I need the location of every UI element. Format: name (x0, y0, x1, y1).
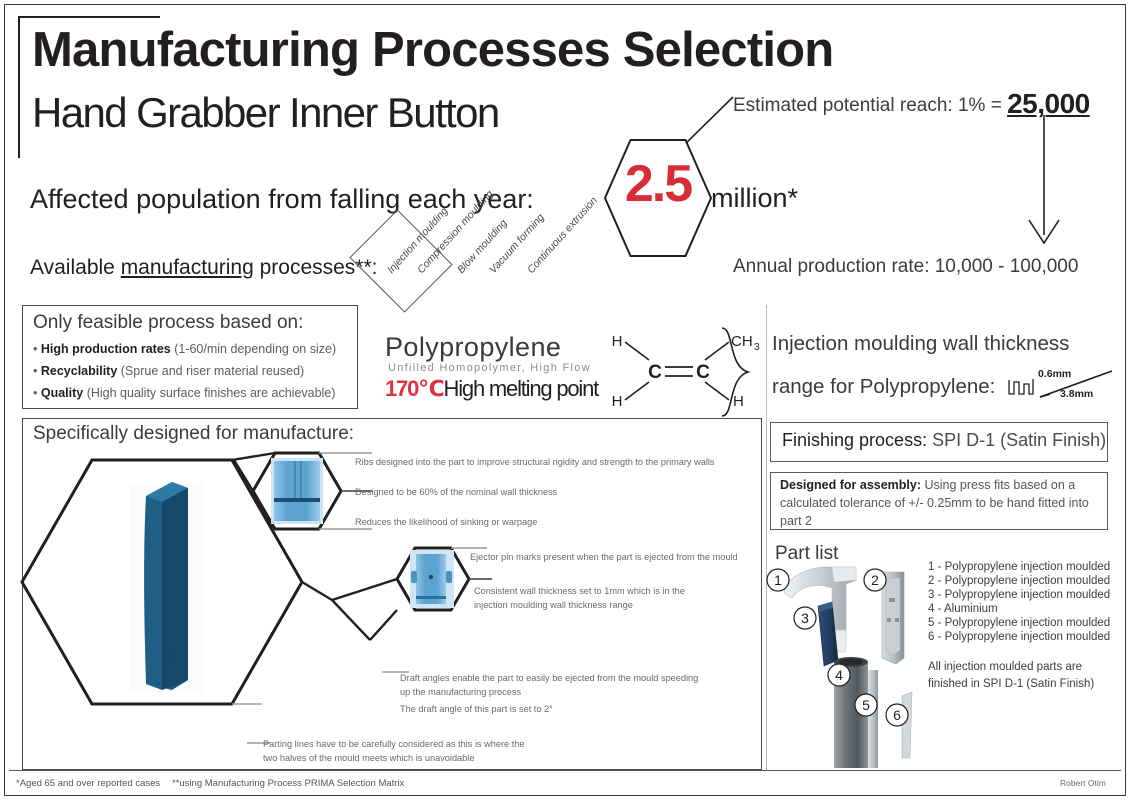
estimated-reach-label: Estimated potential reach: 1% = (733, 95, 1002, 116)
part-list-item-1: 1 - Polypropylene injection moulded (928, 561, 1110, 573)
page-subtitle: Hand Grabber Inner Button (32, 92, 499, 134)
feasible-item-0-bold: High production rates (41, 342, 171, 356)
annual-production-rate: Annual production rate: 10,000 - 100,000 (733, 256, 1078, 278)
header-rule-vertical (18, 16, 20, 158)
feasible-item-2: • Quality (High quality surface finishes… (33, 386, 335, 400)
wall-thickness-max: 3.8mm (1060, 388, 1093, 400)
finishing-process-label: Finishing process: (782, 430, 927, 450)
author-credit: Robert Otim (1060, 778, 1106, 788)
manufacture-annotation-6: The draft angle of this part is set to 2… (400, 703, 700, 717)
process-option-continuous-extrusion[interactable]: Continuous extrusion (525, 195, 600, 276)
wall-thickness-icon (1008, 378, 1034, 396)
finishing-process-text: Finishing process: SPI D-1 (Satin Finish… (782, 430, 1106, 451)
page-title: Manufacturing Processes Selection (32, 26, 833, 75)
molecule-h-top-left: H (612, 333, 623, 350)
material-subtitle: Unfilled Homopolymer, High Flow (388, 362, 591, 374)
manufacture-annotation-0: Ribs designed into the part to improve s… (355, 456, 725, 470)
part-list-item-6: 6 - Polypropylene injection moulded (928, 631, 1110, 643)
down-arrow-icon (1024, 115, 1064, 250)
part-callout-6: 6 (893, 707, 901, 723)
footer-divider (9, 770, 1121, 771)
part-list-item-2: 2 - Polypropylene injection moulded (928, 575, 1110, 587)
feasible-item-1-rest: (Sprue and riser material reused) (117, 364, 304, 378)
manufacture-annotation-4: Consistent wall thickness set to 1mm whi… (474, 585, 704, 613)
part-callout-3: 3 (801, 610, 809, 626)
feasible-item-0-rest: (1-60/min depending on size) (171, 342, 336, 356)
feasible-process-title: Only feasible process based on: (33, 312, 303, 334)
part-list-note: All injection moulded parts are finished… (928, 659, 1118, 692)
molecule-repeat-brace (718, 326, 752, 418)
material-name: Polypropylene (385, 332, 561, 363)
wall-thickness-line-1: Injection moulding wall thickness (772, 332, 1069, 356)
design-for-assembly-label: Designed for assembly: (780, 478, 921, 492)
feasible-item-2-bold: Quality (41, 386, 83, 400)
wall-thickness-line-2: range for Polypropylene: (772, 375, 995, 399)
affected-population-label: Affected population from falling each ye… (30, 184, 534, 215)
part-list-item-3: 3 - Polypropylene injection moulded (928, 589, 1110, 601)
part-callout-1: 1 (774, 572, 782, 588)
feasible-item-0: • High production rates (1-60/min depend… (33, 342, 336, 356)
poster-canvas: Manufacturing Processes Selection Hand G… (0, 0, 1130, 800)
manufacture-annotation-3: Ejector pin marks present when the part … (470, 551, 770, 565)
footnote-a: *Aged 65 and over reported cases (16, 778, 160, 789)
available-processes-prefix: Available (30, 256, 121, 279)
affected-population-value: 2.5 (603, 158, 713, 210)
part-callout-4: 4 (835, 667, 843, 683)
available-processes-emphasis: manufacturing (121, 256, 254, 279)
feasible-item-2-rest: (High quality surface finishes are achie… (83, 386, 335, 400)
molecule-carbon-right: C (696, 362, 710, 383)
part-list-item-5: 5 - Polypropylene injection moulded (928, 617, 1110, 629)
melting-label: High melting point (444, 376, 599, 401)
feasible-item-1: • Recyclability (Sprue and riser materia… (33, 364, 304, 378)
molecule-h-bottom-left: H (612, 393, 623, 410)
melting-temperature: 170℃ (385, 376, 444, 401)
finishing-process-value: SPI D-1 (Satin Finish) (927, 430, 1106, 450)
molecule-carbon-left: C (648, 362, 662, 383)
design-for-assembly-text: Designed for assembly: Using press fits … (780, 477, 1100, 530)
header-rule-horizontal (18, 16, 160, 18)
wall-thickness-min: 0.6mm (1038, 368, 1071, 380)
manufacture-annotation-2: Reduces the likelihood of sinking or war… (355, 516, 655, 530)
manufacture-annotation-7: Parting lines have to be carefully consi… (263, 738, 533, 766)
affected-population-unit: million* (711, 183, 798, 214)
molecule-ch3-subscript: 3 (754, 342, 760, 353)
part-callouts: 1 2 3 4 5 6 (762, 560, 932, 770)
available-processes-label: Available manufacturing processes**: (30, 256, 378, 280)
feasible-item-1-bold: Recyclability (41, 364, 117, 378)
manufacture-annotation-1: Designed to be 60% of the nominal wall t… (355, 486, 655, 500)
material-melting: 170℃High melting point (385, 376, 598, 402)
footnote-b: **using Manufacturing Process PRIMA Sele… (172, 778, 404, 789)
part-callout-5: 5 (862, 697, 870, 713)
part-list-item-4: 4 - Aluminium (928, 603, 998, 615)
part-callout-2: 2 (871, 572, 879, 588)
manufacture-annotation-5: Draft angles enable the part to easily b… (400, 672, 700, 700)
